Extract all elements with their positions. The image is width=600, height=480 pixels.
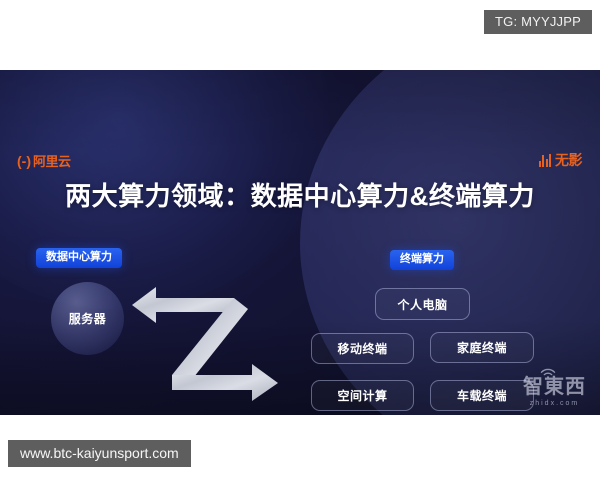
wifi-signal-icon [540,368,556,378]
slide-title: 两大算力领域：数据中心算力&终端算力 [0,182,600,211]
site-url-watermark: www.btc-kaiyunsport.com [8,440,191,467]
zhidx-brand-text: 智東西 [523,377,586,397]
alibaba-cloud-logo-icon: (-) 阿里云 [17,154,71,168]
alibaba-cloud-logo-text: 阿里云 [33,155,71,168]
background-vignette [0,70,600,415]
telegram-watermark: TG: MYYJJPP [484,10,592,34]
wuying-logo-text: 无影 [555,153,582,167]
pill-spatial-computing: 空间计算 [311,380,414,411]
wuying-bars-icon [539,154,552,167]
pill-vehicle-terminal: 车载终端 [430,380,534,411]
z-shaped-double-arrow-icon [130,283,300,405]
badge-data-center-compute: 数据中心算力 [36,248,122,268]
presentation-slide: (-) 阿里云 无影 两大算力领域：数据中心算力&终端算力 数据中心算力 服务器… [0,70,600,415]
wuying-logo-icon: 无影 [539,153,583,167]
badge-terminal-compute: 终端算力 [390,250,454,270]
zhidx-watermark: 智東西 zhidx.com [523,377,586,407]
alibaba-cloud-bracket-icon: (-) [17,154,31,168]
pill-personal-computer: 个人电脑 [375,288,470,320]
node-server-label: 服务器 [69,310,107,327]
pill-mobile-terminal: 移动终端 [311,333,414,364]
pill-home-terminal: 家庭终端 [430,332,534,363]
node-server: 服务器 [51,282,124,355]
zhidx-domain-text: zhidx.com [523,400,586,407]
